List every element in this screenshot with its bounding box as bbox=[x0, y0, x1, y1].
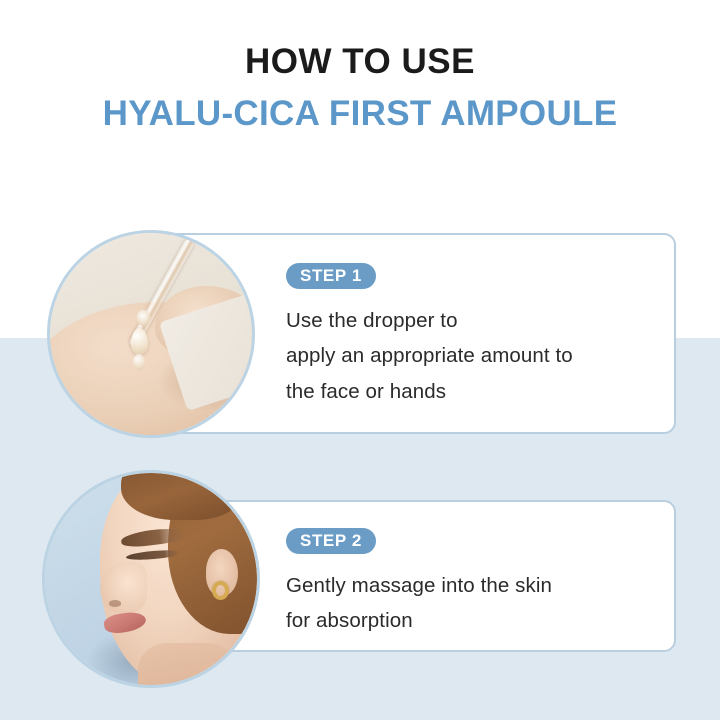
step-1-content: STEP 1 Use the dropper to apply an appro… bbox=[286, 263, 656, 409]
step-1-line-2: apply an appropriate amount to bbox=[286, 338, 656, 373]
nose-shape bbox=[100, 562, 147, 613]
step-2-line-1: Gently massage into the skin bbox=[286, 568, 656, 603]
photo-2-clip bbox=[45, 473, 257, 685]
hair-top-shape bbox=[121, 473, 244, 520]
hand-with-dropper-photo bbox=[47, 230, 255, 438]
title-line-product: HYALU-CICA FIRST AMPOULE bbox=[0, 96, 720, 131]
step-2-badge: STEP 2 bbox=[286, 528, 376, 554]
step-2-content: STEP 2 Gently massage into the skin for … bbox=[286, 528, 656, 639]
serum-drop-secondary-icon bbox=[133, 354, 145, 370]
title-line-primary: HOW TO USE bbox=[0, 44, 720, 79]
how-to-use-infographic: HOW TO USE HYALU-CICA FIRST AMPOULE STEP… bbox=[0, 0, 720, 720]
nostril-shape bbox=[109, 600, 122, 606]
serum-drop-icon bbox=[131, 328, 148, 355]
step-2-line-2: for absorption bbox=[286, 603, 656, 638]
neck-shape bbox=[138, 643, 236, 685]
step-1-line-1: Use the dropper to bbox=[286, 303, 656, 338]
page-title: HOW TO USE HYALU-CICA FIRST AMPOULE bbox=[0, 44, 720, 131]
photo-1-clip bbox=[50, 233, 252, 435]
dropper-tip-icon bbox=[137, 310, 150, 326]
step-1-description: Use the dropper to apply an appropriate … bbox=[286, 303, 656, 409]
step-1-line-3: the face or hands bbox=[286, 374, 656, 409]
woman-face-profile-photo bbox=[42, 470, 260, 688]
step-1-badge: STEP 1 bbox=[286, 263, 376, 289]
step-2-description: Gently massage into the skin for absorpt… bbox=[286, 568, 656, 639]
